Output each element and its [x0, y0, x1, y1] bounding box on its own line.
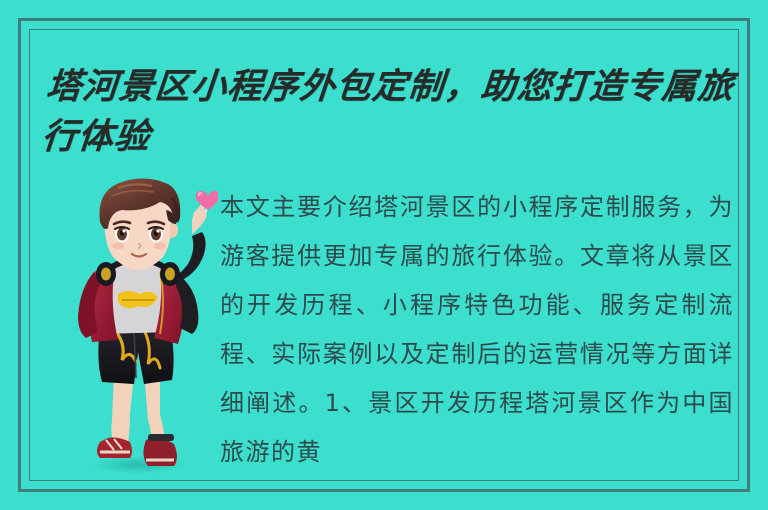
character-illustration: [56, 176, 218, 476]
poster-canvas: 塔河景区小程序外包定制，助您打造专属旅行体验: [0, 0, 768, 510]
page-title: 塔河景区小程序外包定制，助您打造专属旅行体验: [40, 62, 739, 162]
raised-arm: [176, 200, 207, 280]
body-paragraph: 本文主要介绍塔河景区的小程序定制服务，为游客提供更加专属的旅行体验。文章将从景区…: [220, 183, 734, 477]
head: [99, 178, 180, 270]
